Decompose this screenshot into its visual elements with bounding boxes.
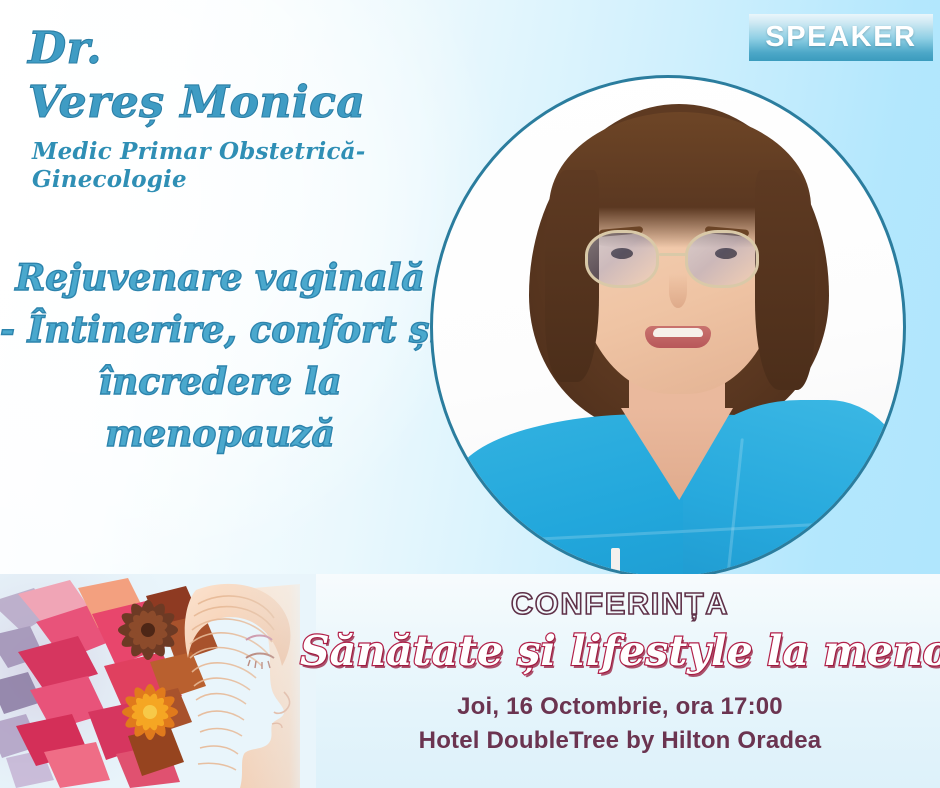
speaker-badge: SPEAKER [749, 14, 933, 61]
talk-title-line-1: Rejuvenare vaginală [0, 252, 440, 304]
speaker-prefix: Dr. [18, 24, 488, 74]
talk-title: Rejuvenare vaginală - Întinerire, confor… [0, 252, 440, 460]
talk-title-line-2: - Întinerire, confort și [0, 304, 440, 356]
bottom-panel: CONFERINȚA Sănătate și lifestyle la meno… [0, 574, 940, 788]
event-venue: Hotel DoubleTree by Hilton Oradea [300, 724, 940, 757]
speaker-badge-label: SPEAKER [765, 21, 916, 54]
event-poster: SPEAKER Dr. Vereș Monica Medic Primar Ob… [0, 0, 940, 788]
speaker-name: Vereș Monica [18, 76, 488, 130]
portrait-nose [669, 274, 687, 308]
top-panel: SPEAKER Dr. Vereș Monica Medic Primar Ob… [0, 0, 940, 574]
portrait-teeth [653, 328, 703, 337]
speaker-role: Medic Primar Obstetrică-Ginecologie [18, 138, 488, 194]
event-kicker: CONFERINȚA [300, 586, 940, 622]
portrait-eyeglass-lens-left [585, 230, 659, 288]
paper-art-svg [0, 574, 316, 788]
event-date: Joi, 16 Octombrie, ora 17:00 [300, 690, 940, 723]
portrait-eyeglass-lens-right [685, 230, 759, 288]
event-text-block: CONFERINȚA Sănătate și lifestyle la meno… [300, 586, 940, 757]
portrait-eyeglass-bridge [659, 253, 687, 256]
paper-art-illustration [0, 574, 316, 788]
event-title: Sănătate și lifestyle la menopauză [300, 626, 940, 676]
talk-title-line-4: menopauză [0, 408, 440, 460]
speaker-name-block: Dr. Vereș Monica Medic Primar Obstetrică… [18, 24, 488, 194]
speaker-portrait [430, 75, 906, 579]
talk-title-line-3: încredere la [0, 356, 440, 408]
portrait-hair-right [755, 170, 815, 390]
